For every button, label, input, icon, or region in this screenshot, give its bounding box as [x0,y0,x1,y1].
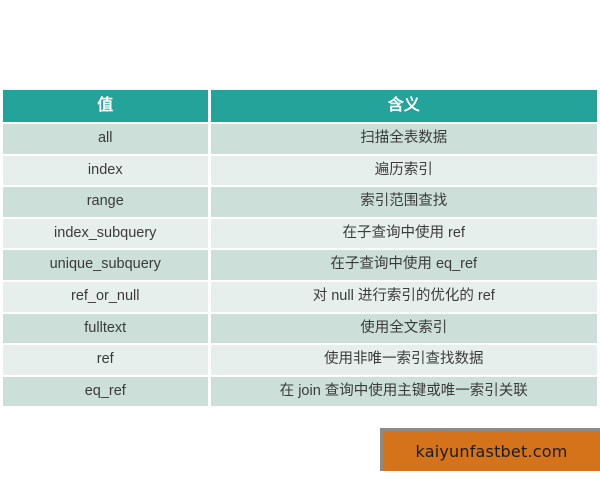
cell-value: all [3,123,209,155]
cell-meaning: 使用非唯一索引查找数据 [209,344,597,376]
table-row: ref_or_null 对 null 进行索引的优化的 ref [3,281,597,313]
cell-value: unique_subquery [3,249,209,281]
access-type-table: 值 含义 all 扫描全表数据 index 遍历索引 range 索引范围查找 … [3,90,597,406]
table-row: index_subquery 在子查询中使用 ref [3,218,597,250]
table-header: 值 含义 [3,90,597,123]
table-row: fulltext 使用全文索引 [3,313,597,345]
table-row: eq_ref 在 join 查询中使用主键或唯一索引关联 [3,376,597,407]
table-row: all 扫描全表数据 [3,123,597,155]
table-body: all 扫描全表数据 index 遍历索引 range 索引范围查找 index… [3,123,597,406]
table-header-row: 值 含义 [3,90,597,123]
table-row: index 遍历索引 [3,155,597,187]
access-type-table-container: 值 含义 all 扫描全表数据 index 遍历索引 range 索引范围查找 … [3,90,597,406]
cell-meaning: 扫描全表数据 [209,123,597,155]
cell-value: fulltext [3,313,209,345]
cell-meaning: 使用全文索引 [209,313,597,345]
cell-value: index [3,155,209,187]
cell-meaning: 对 null 进行索引的优化的 ref [209,281,597,313]
watermark-badge: kaiyunfastbet.com [380,428,600,471]
cell-meaning: 在 join 查询中使用主键或唯一索引关联 [209,376,597,407]
cell-meaning: 在子查询中使用 ref [209,218,597,250]
column-header-value: 值 [3,90,209,123]
cell-value: range [3,186,209,218]
cell-value: ref [3,344,209,376]
table-row: range 索引范围查找 [3,186,597,218]
cell-meaning: 索引范围查找 [209,186,597,218]
cell-meaning: 遍历索引 [209,155,597,187]
cell-meaning: 在子查询中使用 eq_ref [209,249,597,281]
table-row: unique_subquery 在子查询中使用 eq_ref [3,249,597,281]
column-header-meaning: 含义 [209,90,597,123]
cell-value: eq_ref [3,376,209,407]
watermark-label: kaiyunfastbet.com [416,442,568,461]
table-row: ref 使用非唯一索引查找数据 [3,344,597,376]
cell-value: ref_or_null [3,281,209,313]
cell-value: index_subquery [3,218,209,250]
